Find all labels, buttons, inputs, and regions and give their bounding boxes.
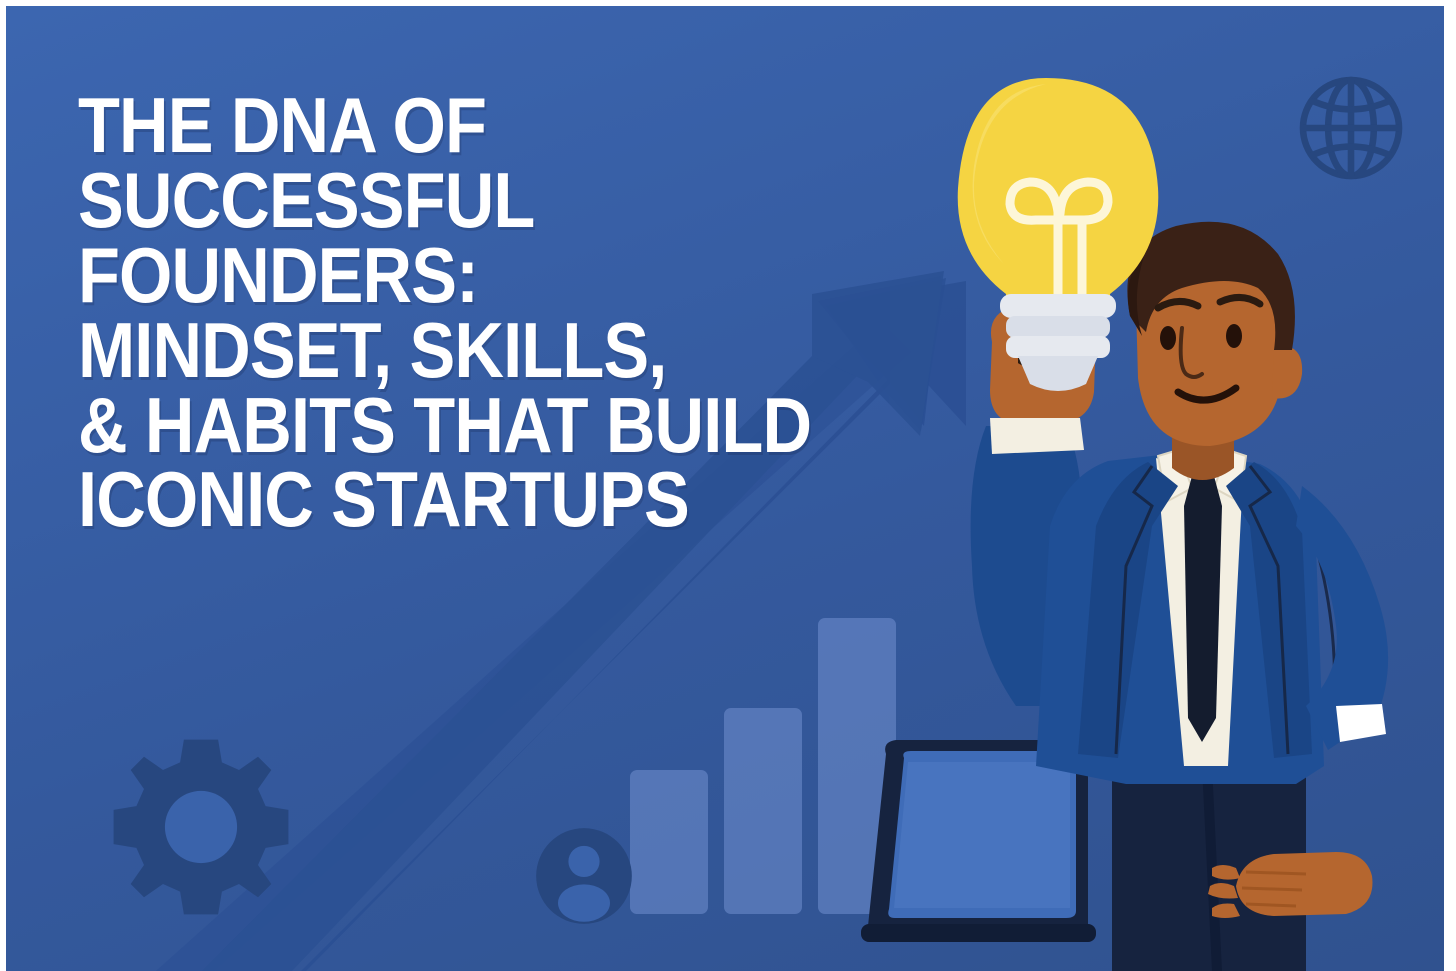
page-title: THE DNA OF SUCCESSFUL FOUNDERS: MINDSET,… [78,88,1008,537]
title-line-3: FOUNDERS: [78,238,896,313]
title-line-2: SUCCESSFUL [78,163,896,238]
poster-root: THE DNA OF SUCCESSFUL FOUNDERS: MINDSET,… [0,0,1456,971]
title-line-1: THE DNA OF [78,88,896,163]
title-line-5: & HABITS THAT BUILD [78,388,896,463]
poster-canvas: THE DNA OF SUCCESSFUL FOUNDERS: MINDSET,… [6,6,1444,971]
title-line-6: ICONIC STARTUPS [78,462,896,537]
title-line-4: MINDSET, SKILLS, [78,313,896,388]
